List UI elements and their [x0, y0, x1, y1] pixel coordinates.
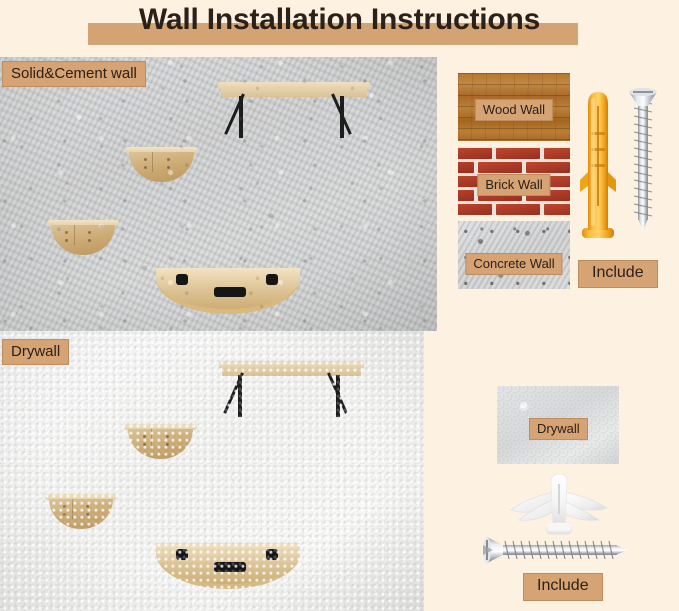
swatch-label-concrete-wall: Concrete Wall	[465, 253, 562, 275]
mounting-hole	[86, 513, 89, 516]
mounting-hole	[166, 443, 169, 446]
ramp-grip-right	[266, 549, 278, 560]
mounting-hole	[86, 505, 89, 508]
mounting-hole	[167, 166, 170, 169]
step-shelf-body	[51, 225, 114, 255]
mounting-hole	[144, 158, 147, 161]
step-shelf-upper	[124, 424, 197, 462]
long-shelf-with-brackets	[218, 82, 370, 144]
brick	[458, 204, 492, 215]
curved-ramp	[156, 268, 300, 314]
step-shelf-upper	[125, 147, 198, 185]
step-shelf-seam	[72, 499, 73, 519]
mounting-hole	[65, 231, 68, 234]
brick	[526, 162, 570, 173]
step-shelf-body	[128, 429, 192, 459]
mounting-hole	[143, 435, 146, 438]
swatch-label-drywall: Drywall	[529, 418, 588, 440]
swatch-brick-wall: Brick Wall	[458, 147, 570, 215]
wood-screw-icon	[626, 84, 660, 244]
wood-screw-icon	[479, 535, 631, 565]
swatch-concrete-wall: Concrete Wall	[458, 221, 570, 289]
include-label-drywall: Include	[523, 573, 603, 601]
swatch-label-brick-wall: Brick Wall	[477, 174, 550, 196]
label-drywall-photo: Drywall	[2, 339, 69, 365]
mounting-hole	[167, 158, 170, 161]
photo-solid-cement-wall	[0, 57, 437, 331]
mounting-hole	[143, 443, 146, 446]
step-shelf-seam	[152, 152, 153, 172]
mounting-hole	[63, 513, 66, 516]
title-block: Wall Installation Instructions	[0, 0, 679, 52]
step-shelf-seam	[151, 429, 152, 449]
brick	[458, 148, 492, 159]
label-solid-cement-wall: Solid&Cement wall	[2, 61, 146, 87]
brick	[458, 162, 474, 173]
brick	[544, 204, 570, 215]
step-shelf-lower	[47, 220, 119, 258]
infographic-page: Wall Installation Instructions	[0, 0, 679, 611]
ramp-grip-left	[176, 274, 188, 285]
mounting-hole	[88, 231, 91, 234]
step-shelf-lower	[45, 494, 117, 532]
brick	[496, 148, 540, 159]
mounting-hole	[88, 239, 91, 242]
step-shelf-body	[49, 499, 112, 529]
step-shelf-body	[129, 152, 193, 182]
swatch-label-wood-wall: Wood Wall	[475, 99, 553, 121]
curved-ramp	[156, 543, 300, 589]
mounting-hole	[63, 505, 66, 508]
mounting-hole	[144, 166, 147, 169]
butterfly-toggle-anchor-icon	[503, 466, 615, 546]
ramp-grip-center	[214, 562, 246, 572]
mounting-hole	[166, 435, 169, 438]
mounting-hole	[65, 239, 68, 242]
brick	[496, 204, 540, 215]
ramp-grip-left	[176, 549, 188, 560]
ramp-grip-center	[214, 287, 246, 297]
page-title: Wall Installation Instructions	[0, 3, 679, 37]
brick	[458, 190, 474, 201]
plastic-expansion-anchor-icon	[574, 84, 622, 244]
photo-drywall	[0, 331, 424, 611]
ramp-grip-right	[266, 274, 278, 285]
step-shelf-seam	[74, 225, 75, 245]
brick	[478, 162, 522, 173]
long-shelf-with-brackets	[219, 361, 364, 423]
include-label-solid-wall: Include	[578, 260, 658, 288]
brick	[544, 148, 570, 159]
swatch-wood-wall: Wood Wall	[458, 73, 570, 141]
